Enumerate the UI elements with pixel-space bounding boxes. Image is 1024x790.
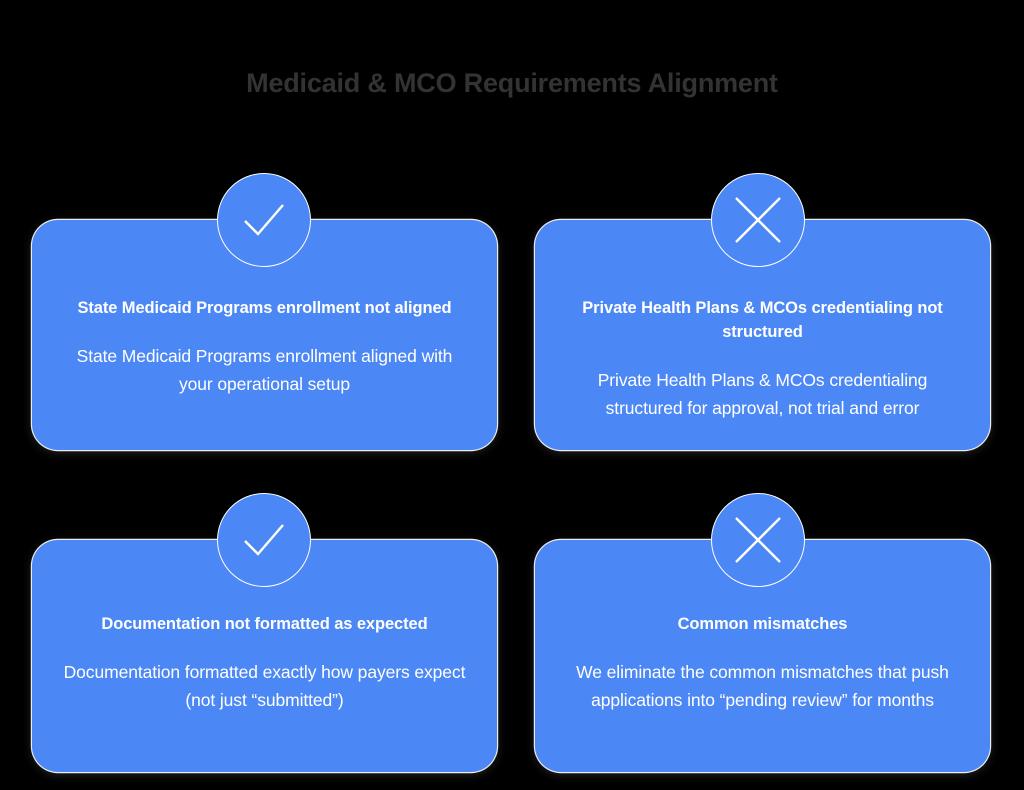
card-body: We eliminate the common mismatches that … (561, 658, 964, 714)
card-slot-bottom-left: Documentation not formatted as expected … (32, 540, 497, 772)
card-heading: State Medicaid Programs enrollment not a… (58, 296, 471, 320)
card-slot-top-left: State Medicaid Programs enrollment not a… (32, 220, 497, 450)
check-icon (217, 493, 311, 587)
card-heading: Private Health Plans & MCOs credentialin… (561, 296, 964, 344)
infographic-canvas: Medicaid & MCO Requirements Alignment St… (0, 0, 1024, 790)
card-heading: Documentation not formatted as expected (58, 612, 471, 636)
card-body: Private Health Plans & MCOs credentialin… (561, 366, 964, 422)
card-slot-bottom-right: Common mismatches We eliminate the commo… (535, 540, 990, 772)
close-x-icon (711, 173, 805, 267)
card-heading: Common mismatches (561, 612, 964, 636)
card-body: Documentation formatted exactly how paye… (58, 658, 471, 714)
card-text-wrap: State Medicaid Programs enrollment not a… (32, 296, 497, 398)
card-grid: State Medicaid Programs enrollment not a… (0, 0, 1024, 790)
card-slot-top-right: Private Health Plans & MCOs credentialin… (535, 220, 990, 450)
card-text-wrap: Documentation not formatted as expected … (32, 612, 497, 714)
check-icon (217, 173, 311, 267)
close-x-icon (711, 493, 805, 587)
card-text-wrap: Common mismatches We eliminate the commo… (535, 612, 990, 714)
card-body: State Medicaid Programs enrollment align… (58, 342, 471, 398)
card-text-wrap: Private Health Plans & MCOs credentialin… (535, 296, 990, 422)
